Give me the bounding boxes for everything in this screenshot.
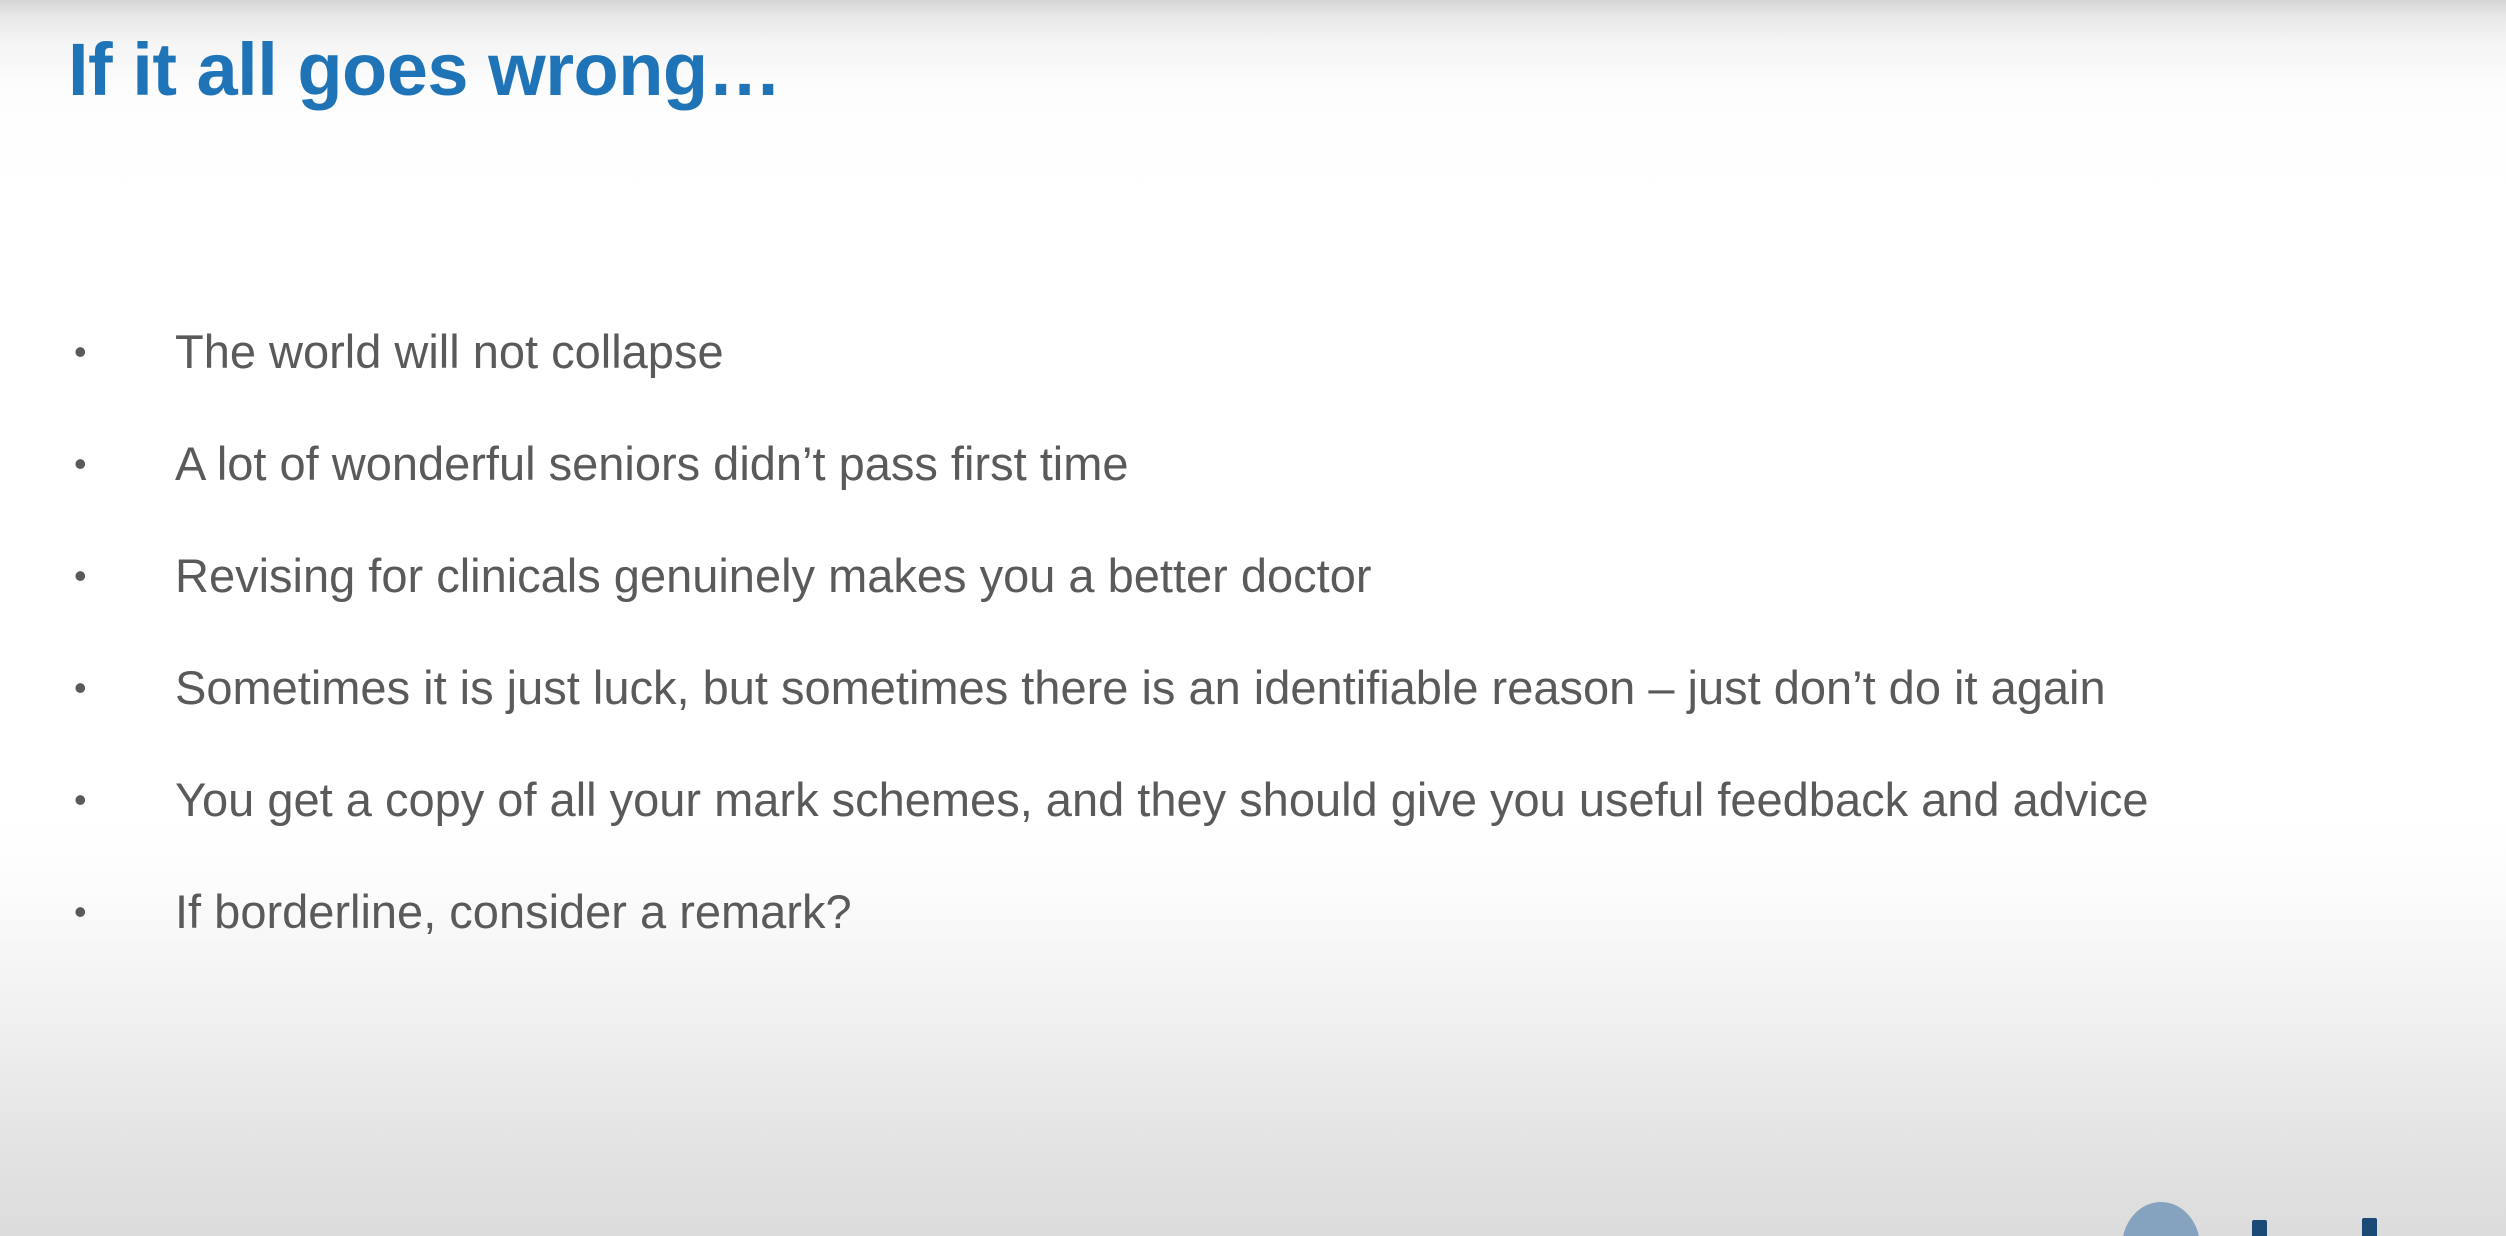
bullet-item-label: Sometimes it is just luck, but sometimes… [175, 636, 2460, 740]
bullet-point-icon: • [74, 524, 104, 628]
bullet-item: • A lot of wonderful seniors didn’t pass… [60, 412, 2460, 516]
logo-mark-right [2362, 1218, 2377, 1236]
bullet-point-icon: • [74, 412, 104, 516]
bullet-item-label: The world will not collapse [175, 300, 2460, 404]
bullet-item-label: If borderline, consider a remark? [175, 860, 2460, 964]
logo-mark-left [2252, 1220, 2267, 1236]
bullet-list: • The world will not collapse • A lot of… [60, 300, 2460, 972]
bullet-item-label: You get a copy of all your mark schemes,… [175, 748, 2460, 852]
bullet-item: • The world will not collapse [60, 300, 2460, 404]
bullet-point-icon: • [74, 748, 104, 852]
bullet-item: • Revising for clinicals genuinely makes… [60, 524, 2460, 628]
bullet-item: • If borderline, consider a remark? [60, 860, 2460, 964]
bullet-point-icon: • [74, 300, 104, 404]
bullet-point-icon: • [74, 636, 104, 740]
presentation-slide: If it all goes wrong… • The world will n… [0, 0, 2506, 1236]
logo-blob-shape [2122, 1202, 2200, 1236]
bullet-item-label: A lot of wonderful seniors didn’t pass f… [175, 412, 2460, 516]
corner-logo-icon [2100, 1196, 2430, 1236]
bullet-item: • Sometimes it is just luck, but sometim… [60, 636, 2460, 740]
bullet-point-icon: • [74, 860, 104, 964]
slide-title: If it all goes wrong… [68, 28, 781, 112]
bullet-item-label: Revising for clinicals genuinely makes y… [175, 524, 2460, 628]
bullet-item: • You get a copy of all your mark scheme… [60, 748, 2460, 852]
